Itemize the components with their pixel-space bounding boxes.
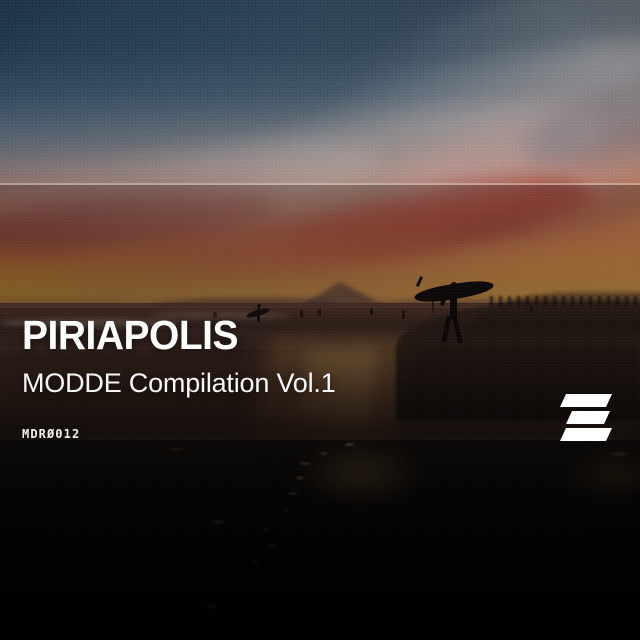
- title-block: PIRIAPOLIS MODDE Compilation Vol.1: [22, 314, 336, 398]
- album-title: PIRIAPOLIS: [22, 314, 320, 356]
- sand-highlight: [206, 604, 216, 609]
- foreground-glow: [560, 452, 640, 502]
- sand-highlight: [262, 528, 270, 531]
- sand-highlight: [170, 448, 184, 451]
- distant-figure: [530, 306, 533, 313]
- sand-highlight: [320, 452, 327, 455]
- sand-highlight: [610, 452, 628, 456]
- foreground-glow: [296, 440, 426, 510]
- distant-structures: [490, 296, 640, 306]
- album-cover: PIRIAPOLIS MODDE Compilation Vol.1 MDRØ0…: [0, 0, 640, 640]
- surfboard-fin: [416, 276, 423, 287]
- surfer-leg: [452, 316, 464, 344]
- distant-figure: [370, 308, 373, 315]
- catalog-number: MDRØ012: [22, 427, 80, 441]
- album-subtitle: MODDE Compilation Vol.1: [22, 368, 336, 398]
- sand-highlight: [300, 462, 311, 465]
- surfer-leg: [441, 316, 451, 342]
- sand-highlight: [288, 492, 298, 495]
- surfer-with-longboard-silhouette: [412, 276, 496, 356]
- logo-bar-middle: [566, 411, 610, 424]
- sand-highlight: [268, 544, 277, 547]
- surfer-head: [257, 304, 261, 308]
- modde-records-logo: [560, 392, 616, 444]
- sand-highlight: [212, 520, 224, 524]
- sand-highlight: [242, 582, 248, 585]
- logo-bar-top: [560, 394, 612, 407]
- sand-highlight: [252, 560, 259, 563]
- sand-highlight: [284, 508, 290, 511]
- sand-highlight: [296, 476, 304, 480]
- distant-figure: [402, 310, 405, 319]
- logo-bar-bottom: [560, 428, 612, 441]
- sand-highlight: [345, 443, 354, 446]
